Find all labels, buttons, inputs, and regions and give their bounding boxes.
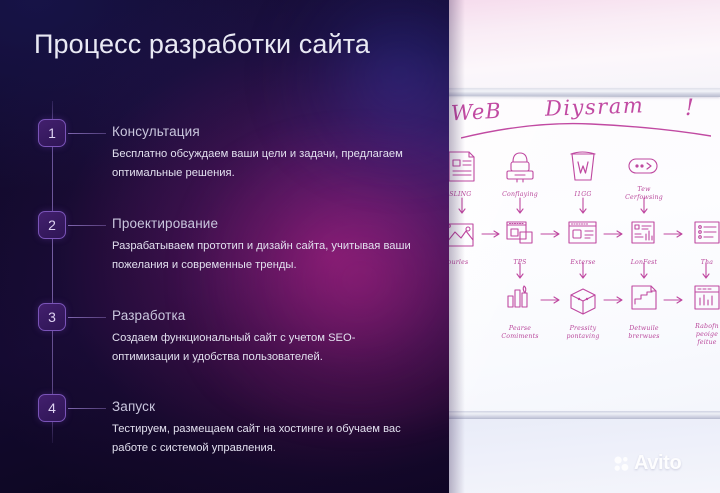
arrow-down-col2 bbox=[517, 198, 523, 213]
wall-above-board bbox=[449, 0, 720, 96]
whiteboard-heading-center: Diysram bbox=[545, 93, 645, 120]
step-number-badge-4[interactable]: 4 bbox=[38, 394, 66, 422]
arrow-right-r2-4 bbox=[664, 231, 682, 237]
diagram-node-2: Conflaying bbox=[497, 188, 543, 199]
step-description-2: Разрабатываем прототип и дизайн сайта, у… bbox=[112, 237, 412, 276]
report-icon bbox=[695, 286, 719, 309]
arrow-right-r3-3 bbox=[664, 297, 682, 303]
step-connector-4 bbox=[68, 408, 106, 409]
diagram-node-4: Tew Cerfowsing bbox=[621, 183, 667, 202]
diagram-node-3: I1GG bbox=[560, 188, 606, 199]
image-icon bbox=[449, 224, 473, 246]
checklist-icon bbox=[695, 222, 719, 243]
arrow-right-r3-2 bbox=[604, 297, 622, 303]
step-title-4: Запуск bbox=[112, 399, 155, 414]
step-number-badge-3[interactable]: 3 bbox=[38, 303, 66, 331]
bar-chart-icon bbox=[508, 286, 527, 307]
document-icon bbox=[449, 152, 474, 181]
step-connector-1 bbox=[68, 133, 106, 134]
step-connector-2 bbox=[68, 225, 106, 226]
timeline-rail bbox=[52, 101, 53, 443]
arrow-right-r2-1 bbox=[482, 231, 499, 237]
step-title-1: Консультация bbox=[112, 124, 200, 139]
slide-screenshot: Процесс разработки сайта 1 Консультация … bbox=[0, 0, 720, 493]
cube-icon bbox=[571, 289, 595, 314]
diagram-node-12: Detwuile brerwues bbox=[621, 322, 667, 341]
step-title-3: Разработка bbox=[112, 308, 185, 323]
avito-watermark: Avito bbox=[613, 452, 681, 475]
heading-underline-stroke bbox=[461, 122, 711, 140]
list-chart-icon bbox=[632, 222, 654, 243]
arrow-right-r2-3 bbox=[604, 231, 622, 237]
arrow-right-r3-1 bbox=[541, 297, 559, 303]
step-description-1: Бесплатно обсуждаем ваши цели и задачи, … bbox=[112, 145, 412, 184]
diagram-node-13: Rabofn peoige feitue bbox=[684, 320, 720, 346]
printer-icon bbox=[507, 153, 533, 182]
arrow-right-r2-2 bbox=[541, 231, 559, 237]
step-title-2: Проектирование bbox=[112, 216, 218, 231]
whiteboard-heading-right: ! bbox=[685, 96, 694, 121]
layers-icon bbox=[507, 222, 532, 243]
avito-logo-icon bbox=[613, 455, 630, 472]
diagram-node-11: Pressity pontaving bbox=[560, 322, 606, 341]
diagram-node-8: LonFest bbox=[621, 256, 667, 267]
step-description-3: Создаем функциональный сайт с учетом SEO… bbox=[112, 329, 412, 368]
step-connector-3 bbox=[68, 317, 106, 318]
left-content-panel: Процесс разработки сайта 1 Консультация … bbox=[0, 0, 449, 493]
step-number-badge-2[interactable]: 2 bbox=[38, 211, 66, 239]
step-description-4: Тестируем, размещаем сайт на хостинге и … bbox=[112, 420, 412, 459]
arrow-down-col1 bbox=[459, 198, 465, 213]
whiteboard-photo: WeB Diysram ! bbox=[449, 0, 720, 493]
avito-brand-text: Avito bbox=[634, 452, 681, 475]
trash-w-icon bbox=[571, 152, 595, 180]
page-title: Процесс разработки сайта bbox=[34, 27, 394, 63]
step-number-badge-1[interactable]: 1 bbox=[38, 119, 66, 147]
profile-card-icon bbox=[569, 222, 596, 243]
diagram-node-10: Pearse Comiments bbox=[497, 322, 543, 341]
diagram-node-9: Tha bbox=[684, 256, 720, 267]
step-doc-icon bbox=[632, 286, 656, 309]
diagram-node-5: ourles bbox=[449, 256, 481, 267]
diagram-node-6: TPS bbox=[497, 256, 543, 267]
diagram-node-7: Exterse bbox=[560, 256, 606, 267]
pill-code-icon bbox=[629, 159, 657, 173]
diagram-node-1: ASLING bbox=[449, 188, 481, 199]
arrow-down-col3 bbox=[580, 198, 586, 213]
